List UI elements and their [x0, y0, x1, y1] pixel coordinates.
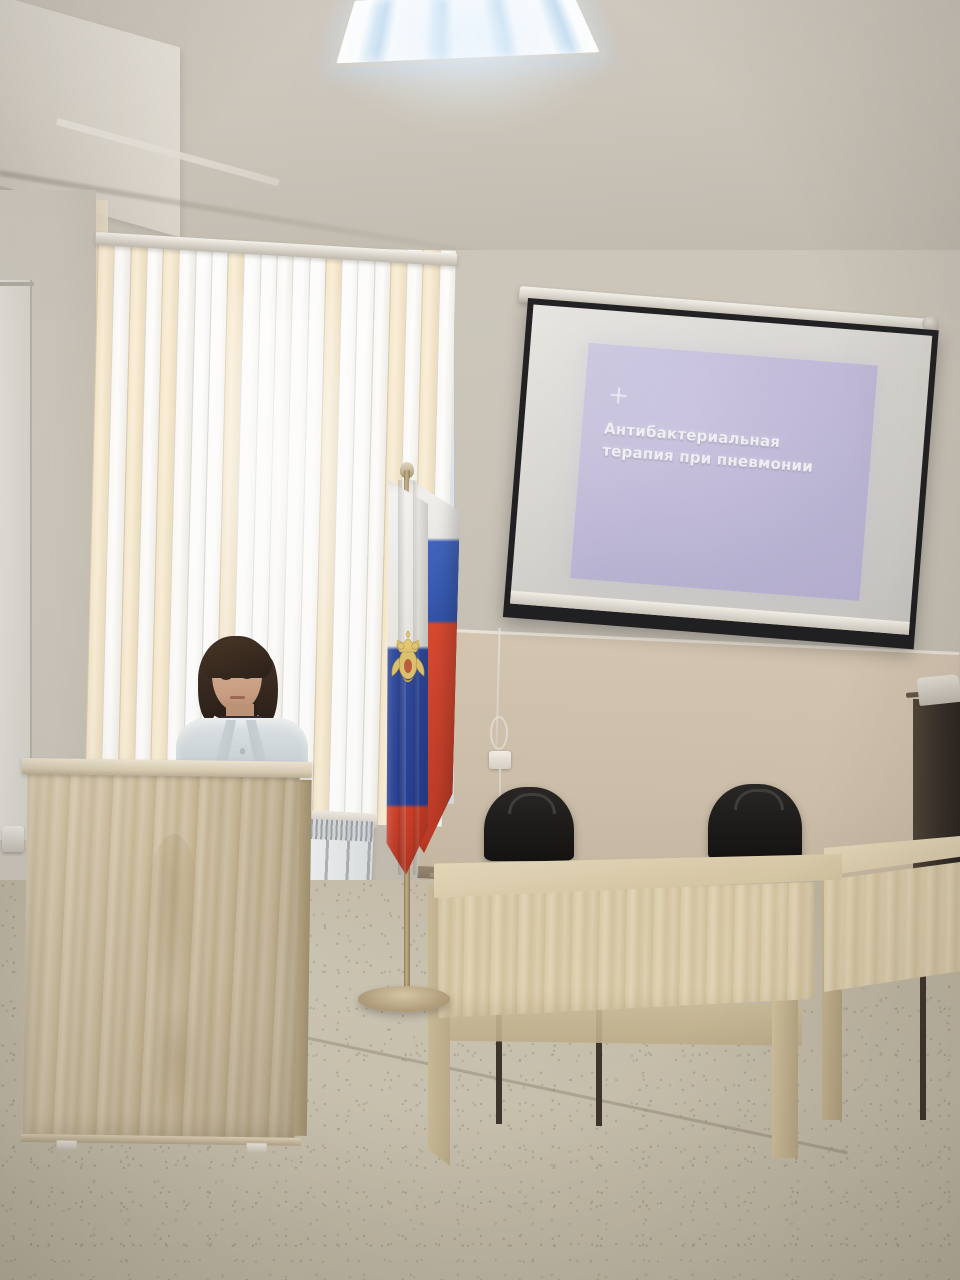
left-wall-panel — [0, 280, 32, 840]
desk-front[interactable] — [434, 854, 842, 1154]
double-headed-eagle-icon — [390, 626, 426, 702]
presenter-mouth — [230, 696, 245, 699]
wall-cable-loop — [490, 716, 508, 750]
podium-front-panel — [23, 772, 300, 1142]
podium-wood-grain — [151, 999, 201, 1120]
podium-foot — [57, 1140, 77, 1150]
desk-right[interactable] — [824, 836, 960, 1116]
wall-cable-lower — [499, 768, 501, 798]
projected-slide: Антибактериальная терапия при пневмонии — [570, 343, 878, 601]
conference-room-photo: Антибактериальная терапия при пневмонии — [0, 0, 960, 1280]
coat-button — [240, 748, 245, 753]
slide-title: Антибактериальная терапия при пневмонии — [601, 418, 854, 481]
door-handle-icon[interactable] — [2, 826, 24, 852]
podium — [23, 758, 306, 1154]
wall-socket[interactable] — [489, 751, 511, 769]
podium-foot — [247, 1143, 267, 1153]
presenter — [176, 636, 308, 776]
flag-stand-base — [358, 986, 450, 1012]
sparkle-icon — [610, 387, 627, 404]
projection-screen: Антибактериальная терапия при пневмонии — [503, 298, 939, 649]
side-lectern-top — [917, 674, 960, 706]
desk-front-apron — [438, 882, 814, 1018]
left-panel-frame — [0, 282, 34, 286]
projection-screen-surface: Антибактериальная терапия при пневмонии — [510, 304, 932, 634]
desk-right-front — [824, 862, 960, 992]
podium-wood-grain — [142, 834, 203, 1015]
